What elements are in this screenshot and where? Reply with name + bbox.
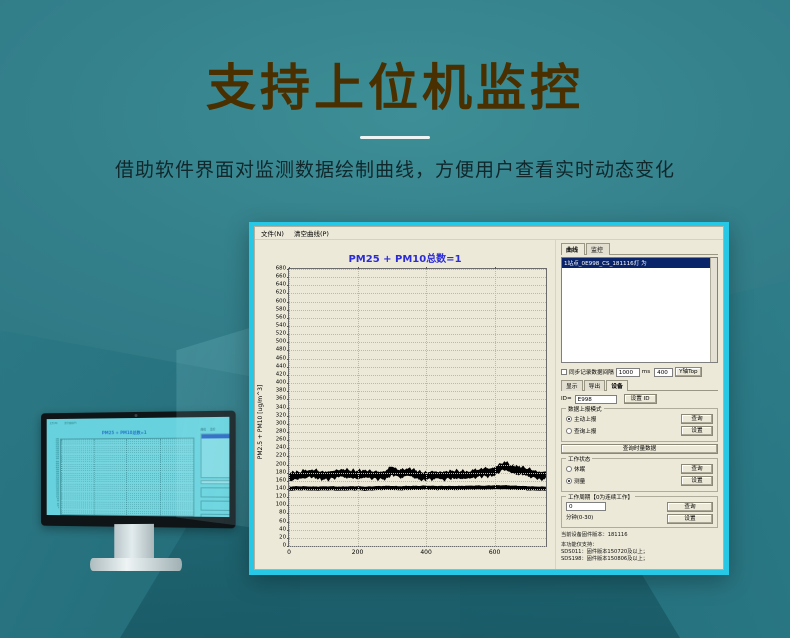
upload-mode-group: 数据上报模式 主动上报 查询 查询上报 设置 — [561, 408, 718, 442]
work-state-row-1: 休眠 查询 — [566, 464, 713, 474]
chart-y-tick-mark — [287, 546, 289, 547]
chart-gridline-x — [426, 269, 427, 546]
monitor-gridline-y — [61, 481, 193, 482]
chart-y-tick-label: 80 — [279, 511, 286, 516]
chart-gridline-y — [289, 448, 546, 449]
monitor-gridline-y — [61, 463, 193, 464]
chart-y-tick-label: 520 — [276, 331, 286, 336]
chart-gridline-y — [289, 440, 546, 441]
chart-title: PM25 + PM10总数=1 — [255, 250, 555, 265]
chart-plot: 0204060801001201401601802002202402602803… — [288, 268, 547, 547]
chart-y-tick-label: 160 — [276, 478, 286, 483]
chart-y-tick-label: 480 — [276, 348, 286, 353]
chart-y-tick-label: 640 — [276, 283, 286, 288]
monitor-gridline-y — [61, 479, 193, 480]
page-headline: 支持上位机监控 — [0, 48, 790, 120]
chart-gridline-y — [289, 505, 546, 506]
monitor-screen-ui: 文件(N) 清空曲线(P) PM25 + PM10总数=1 6806606406… — [47, 417, 230, 517]
chart-y-tick-label: 580 — [276, 307, 286, 312]
chart-y-tick-label: 680 — [276, 266, 286, 271]
monitor-gridline-y — [61, 468, 193, 469]
set-device-id-button[interactable]: 设置 ID — [624, 394, 657, 404]
device-id-input[interactable]: E998 — [575, 395, 617, 404]
chart-gridline-y — [289, 497, 546, 498]
monitor-gridline-y — [61, 452, 193, 454]
chart-series-lines — [289, 269, 546, 502]
listbox-scrollbar[interactable] — [710, 258, 717, 362]
monitor-gridline-y — [61, 454, 193, 455]
chart-gridline-y — [289, 538, 546, 539]
chart-x-tick-label: 0 — [287, 549, 291, 556]
work-period-left: 0 分钟(0-30) — [566, 502, 662, 524]
monitor-gridline-y — [61, 466, 193, 467]
chart-gridline-y — [289, 302, 546, 303]
monitor-gridline-x — [93, 439, 94, 514]
monitor-menu: 文件(N) 清空曲线(P) — [50, 421, 77, 425]
app-body: PM25 + PM10总数=1 PM2.5 + PM10 [ug/m^3] 02… — [255, 240, 723, 569]
monitor-device-box — [201, 487, 230, 498]
radio-measure[interactable]: 测量 — [566, 477, 585, 485]
chart-gridline-y — [289, 481, 546, 482]
subtab-export[interactable]: 导出 — [584, 380, 606, 391]
monitor-gridline-y — [61, 477, 193, 478]
chart-y-tick-label: 540 — [276, 323, 286, 328]
chart-y-tick-label: 460 — [276, 356, 286, 361]
chart-y-tick-label: 620 — [276, 291, 286, 296]
monitor-frame: 文件(N) 清空曲线(P) PM25 + PM10总数=1 6806606406… — [41, 411, 236, 529]
chart-y-tick-label: 100 — [276, 503, 286, 508]
monitor-device-selected — [202, 434, 230, 439]
chart-gridline-x — [495, 269, 496, 546]
menu-item-file[interactable]: 文件(N) — [261, 228, 284, 238]
chart-y-tick-label: 560 — [276, 315, 286, 320]
chart-y-tick-label: 660 — [276, 274, 286, 279]
chart-gridline-y — [289, 367, 546, 368]
radio-measure-label: 测量 — [574, 477, 585, 485]
chart-y-tick-label: 500 — [276, 340, 286, 345]
chart-y-tick-label: 0 — [283, 543, 286, 548]
ytop-button[interactable]: Y轴Top — [675, 367, 701, 377]
work-state-title: 工作状态 — [566, 455, 592, 463]
chart-gridline-y — [289, 399, 546, 400]
chart-gridline-y — [289, 293, 546, 294]
monitor-gridline-x — [61, 440, 62, 515]
sync-record-checkbox[interactable] — [561, 369, 567, 375]
chart-gridline-y — [289, 285, 546, 286]
upload-mode-row-1: 主动上报 查询 — [566, 414, 713, 424]
panel-tabs: 曲线 监控 — [561, 244, 718, 255]
chart-gridline-y — [289, 310, 546, 311]
sync-interval-row: 同步记录数据间隔 1000 ms 400 Y轴Top — [561, 367, 718, 377]
radio-active-upload-label: 主动上报 — [574, 415, 596, 423]
monitor-menu-file: 文件(N) — [50, 421, 58, 425]
monitor-gridline-x — [126, 439, 127, 515]
chart-x-tick-label: 600 — [489, 549, 500, 556]
chart-x-tick-label: 200 — [352, 549, 363, 556]
monitor-gridline-y — [61, 472, 193, 473]
subtab-display[interactable]: 显示 — [561, 380, 583, 391]
radio-query-upload-icon[interactable] — [566, 428, 572, 434]
radio-sleep[interactable]: 休眠 — [566, 465, 585, 473]
chart-gridline-y — [289, 465, 546, 466]
monitor-gridline-y — [61, 470, 193, 471]
monitor-camera-icon — [135, 413, 138, 416]
work-period-query-button[interactable]: 查询 — [667, 502, 713, 512]
chart-y-tick-label: 380 — [276, 389, 286, 394]
radio-query-upload-label: 查询上报 — [574, 427, 596, 435]
work-period-hint: 分钟(0-30) — [566, 513, 662, 521]
chart-gridline-y — [289, 473, 546, 474]
menu-item-clear-curve[interactable]: 清空曲线(P) — [294, 228, 329, 238]
radio-sleep-icon[interactable] — [566, 466, 572, 472]
device-id-label: ID= — [561, 396, 572, 402]
headline-divider — [360, 136, 430, 139]
chart-y-tick-label: 60 — [279, 519, 286, 524]
chart-pane: PM25 + PM10总数=1 PM2.5 + PM10 [ug/m^3] 02… — [255, 240, 555, 569]
chart-gridline-y — [289, 522, 546, 523]
ytop-value-input[interactable]: 400 — [654, 368, 673, 377]
monitor-chart-yticks: 6806606406206005805605405205004804604404… — [50, 439, 60, 516]
firmware-footer: 当前设备固件版本：181116 本功能仅支持： SDS011：固件版本15072… — [561, 532, 718, 563]
chart-y-tick-label: 440 — [276, 364, 286, 369]
chart-x-tick-label: 400 — [420, 549, 431, 556]
chart-y-tick-label: 300 — [276, 421, 286, 426]
sync-record-label: 同步记录数据间隔 — [569, 368, 614, 376]
monitor-gridline-y — [61, 461, 193, 462]
app-window: 文件(N) 清空曲线(P) PM25 + PM10总数=1 PM2.5 + PM… — [254, 226, 724, 570]
monitor-tabs: 曲线 监控 — [201, 427, 230, 432]
chart-gridline-y — [289, 383, 546, 384]
radio-active-upload-icon[interactable] — [566, 416, 572, 422]
chart-gridline-y — [289, 408, 546, 409]
sync-interval-unit: ms — [642, 369, 650, 375]
chart-x-tick-mark — [358, 267, 359, 269]
chart-y-tick-label: 240 — [276, 446, 286, 451]
monitor-stand-base — [90, 558, 182, 571]
firmware-support-sds198: SDS198：固件版本150806及以上； — [561, 556, 718, 563]
chart-gridline-y — [289, 432, 546, 433]
work-state-query-button[interactable]: 查询 — [681, 464, 713, 474]
work-period-right: 查询 设置 — [667, 502, 713, 524]
monitor-menu-clear: 清空曲线(P) — [64, 421, 76, 425]
chart-gridline-y — [289, 530, 546, 531]
device-listbox[interactable]: 1站点_0E998_CS_181116灯 为 — [561, 257, 718, 363]
chart-y-tick-label: 20 — [279, 535, 286, 540]
chart-y-tick-label: 360 — [276, 397, 286, 402]
chart-gridline-x — [358, 269, 359, 546]
chart-y-tick-label: 280 — [276, 429, 286, 434]
chart-gridline-y — [289, 489, 546, 490]
chart-gridline-y — [289, 375, 546, 376]
tab-monitor[interactable]: 监控 — [586, 243, 610, 255]
upload-mode-title: 数据上报模式 — [566, 405, 604, 413]
monitor-device-list — [201, 433, 230, 478]
chart-y-tick-label: 340 — [276, 405, 286, 410]
chart-gridline-y — [289, 359, 546, 360]
chart-y-tick-label: 140 — [276, 486, 286, 491]
monitor-state-box — [201, 514, 230, 517]
firmware-support-label: 本功能仅支持： — [561, 542, 718, 549]
monitor-sync-field — [201, 480, 230, 484]
chart-y-tick-label: 400 — [276, 380, 286, 385]
chart-gridline-y — [289, 546, 546, 547]
monitor-y-tick: 0 — [50, 507, 60, 509]
monitor-gridline-y — [61, 512, 193, 514]
chart-gridline-x — [289, 269, 290, 546]
chart-y-tick-label: 200 — [276, 462, 286, 467]
monitor-stand-neck — [114, 524, 154, 560]
work-period-title: 工作周期【0为连续工作】 — [566, 493, 635, 501]
monitor-gridline-y — [61, 483, 193, 484]
chart-y-tick-label: 600 — [276, 299, 286, 304]
chart-y-tick-label: 320 — [276, 413, 286, 418]
upload-mode-row-2: 查询上报 设置 — [566, 426, 713, 436]
chart-plot-area: 0204060801001201401601802002202402602803… — [288, 268, 547, 547]
chart-y-tick-label: 220 — [276, 454, 286, 459]
chart-y-tick-label: 120 — [276, 494, 286, 499]
chart-gridline-y — [289, 326, 546, 327]
chart-gridline-y — [289, 269, 546, 270]
firmware-current-version: 当前设备固件版本：181116 — [561, 532, 718, 539]
monitor-screen: 文件(N) 清空曲线(P) PM25 + PM10总数=1 6806606406… — [47, 417, 230, 517]
chart-gridline-y — [289, 456, 546, 457]
chart-gridline-y — [289, 318, 546, 319]
page-subheadline: 借助软件界面对监测数据绘制曲线，方便用户查看实时动态变化 — [0, 155, 790, 182]
monitor-chart-title: PM25 + PM10总数=1 — [56, 429, 194, 436]
monitor-gridline-y — [61, 475, 193, 476]
work-period-body: 0 分钟(0-30) 查询 设置 — [566, 502, 713, 524]
chart-y-axis-label: PM2.5 + PM10 [ug/m^3] — [257, 385, 264, 460]
radio-query-upload[interactable]: 查询上报 — [566, 427, 596, 435]
chart-gridline-y — [289, 424, 546, 425]
chart-gridline-y — [289, 513, 546, 514]
chart-gridline-y — [289, 416, 546, 417]
upload-mode-query-button[interactable]: 查询 — [681, 414, 713, 424]
radio-active-upload[interactable]: 主动上报 — [566, 415, 596, 423]
side-panel: 曲线 监控 1站点_0E998_CS_181116灯 为 同步记录数据间隔 10… — [555, 240, 723, 569]
monitor-upload-box — [201, 500, 230, 511]
monitor-gridline-y — [61, 457, 193, 458]
menu-bar: 文件(N) 清空曲线(P) — [255, 227, 723, 240]
firmware-support-sds011: SDS011：固件版本150720及以上； — [561, 549, 718, 556]
app-window-frame: 文件(N) 清空曲线(P) PM25 + PM10总数=1 PM2.5 + PM… — [249, 222, 729, 575]
work-period-input[interactable]: 0 — [566, 502, 606, 511]
work-state-set-button[interactable]: 设置 — [681, 476, 713, 486]
monitor-gridline-x — [159, 439, 160, 515]
work-state-row-2: 测量 设置 — [566, 476, 713, 486]
query-interval-data-button[interactable]: 查询时量数据 — [561, 444, 718, 454]
list-item[interactable]: 1站点_0E998_CS_181116灯 为 — [562, 258, 717, 268]
monitor-tab-monitor: 监控 — [210, 427, 215, 431]
work-period-group: 工作周期【0为连续工作】 0 分钟(0-30) 查询 设置 — [561, 496, 718, 528]
work-period-set-button[interactable]: 设置 — [667, 514, 713, 524]
monitor-tab-curve: 曲线 — [201, 427, 206, 431]
chart-y-tick-label: 40 — [279, 527, 286, 532]
chart-gridline-y — [289, 342, 546, 343]
monitor-sync-row — [201, 480, 230, 484]
chart-gridline-y — [289, 391, 546, 392]
chart-y-tick-label: 260 — [276, 437, 286, 442]
radio-sleep-label: 休眠 — [574, 465, 585, 473]
subtab-device[interactable]: 设备 — [606, 380, 628, 391]
monitor-side-panel: 曲线 监控 — [201, 427, 230, 514]
monitor-chart-plot — [60, 438, 194, 517]
chart-x-tick-mark — [426, 267, 427, 269]
chart-x-tick-mark — [495, 267, 496, 269]
panel-subtabs: 显示 导出 设备 — [561, 381, 718, 391]
device-id-row: ID= E998 设置 ID — [561, 394, 718, 404]
chart-gridline-y — [289, 277, 546, 278]
upload-mode-set-button[interactable]: 设置 — [681, 426, 713, 436]
chart-y-tick-label: 180 — [276, 470, 286, 475]
chart-gridline-y — [289, 334, 546, 335]
monitor-illustration: 文件(N) 清空曲线(P) PM25 + PM10总数=1 6806606406… — [38, 412, 264, 572]
sync-interval-input[interactable]: 1000 — [616, 368, 640, 377]
chart-x-tick-mark — [289, 267, 290, 269]
chart-gridline-y — [289, 350, 546, 351]
monitor-gridline-y — [61, 459, 193, 460]
chart-y-tick-label: 420 — [276, 372, 286, 377]
radio-measure-icon[interactable] — [566, 478, 572, 484]
tab-curve[interactable]: 曲线 — [561, 243, 585, 255]
work-state-group: 工作状态 休眠 查询 测量 设置 — [561, 458, 718, 492]
